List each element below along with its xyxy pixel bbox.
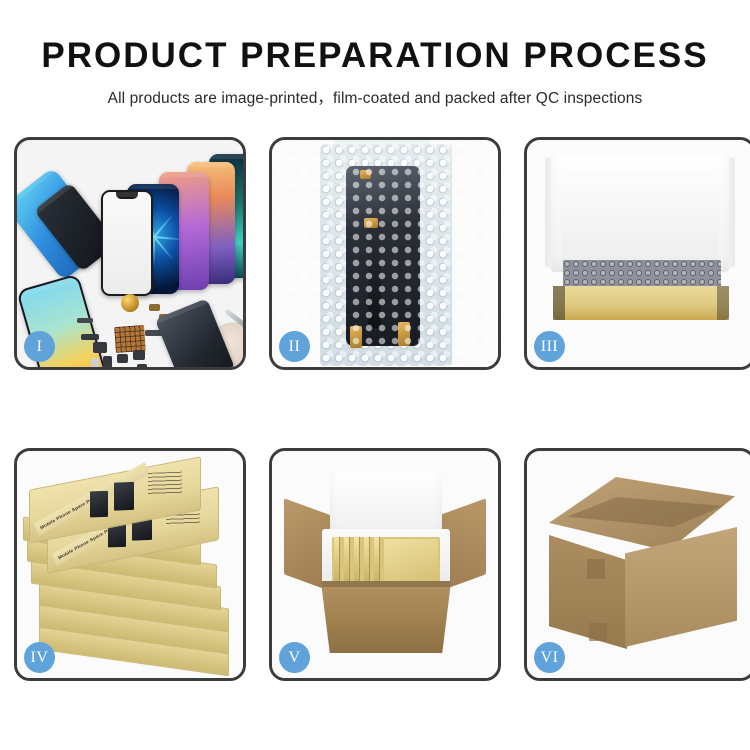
screen-protector-glass bbox=[101, 190, 153, 296]
step-panel-2[interactable]: II bbox=[269, 137, 501, 370]
gold-connector bbox=[398, 322, 410, 346]
step-panel-3[interactable]: III bbox=[524, 137, 750, 370]
sealed-carton-illustration bbox=[527, 451, 750, 678]
small-part bbox=[91, 358, 99, 367]
step-badge-6: VI bbox=[534, 642, 565, 673]
small-part bbox=[117, 354, 128, 363]
camera-lens-part bbox=[121, 294, 139, 312]
page-subtitle: All products are image-printed，film-coat… bbox=[0, 86, 750, 108]
carton-tape-patch bbox=[587, 559, 605, 579]
page-header: PRODUCT PREPARATION PROCESS All products… bbox=[0, 0, 750, 108]
page-title: PRODUCT PREPARATION PROCESS bbox=[0, 38, 750, 75]
gold-connector bbox=[360, 170, 371, 179]
small-part bbox=[103, 356, 112, 367]
inner-box-illustration bbox=[527, 140, 750, 367]
step-badge-2: II bbox=[279, 331, 310, 362]
carton-packing-illustration bbox=[272, 451, 498, 678]
step-badge-1: I bbox=[24, 331, 55, 362]
box-product-image bbox=[90, 491, 108, 518]
step-badge-4: IV bbox=[24, 642, 55, 673]
small-part bbox=[77, 318, 93, 323]
small-part bbox=[137, 364, 147, 367]
logic-board-chip bbox=[114, 325, 146, 353]
step-panel-4[interactable]: Mobile Phone Spare Parts Mobile Phone Sp… bbox=[14, 448, 246, 681]
carton-front-face bbox=[625, 527, 737, 647]
bubble-wrap-illustration bbox=[272, 140, 498, 367]
small-part bbox=[149, 304, 160, 311]
kraft-box-tray bbox=[553, 286, 729, 320]
flex-cable bbox=[368, 224, 381, 328]
box-product-image bbox=[114, 482, 134, 511]
small-part bbox=[133, 350, 145, 360]
step-panel-6[interactable]: VI bbox=[524, 448, 750, 681]
step-panel-5[interactable]: V bbox=[269, 448, 501, 681]
shipping-carton-open bbox=[312, 581, 460, 653]
step-badge-3: III bbox=[534, 331, 565, 362]
step-panel-1[interactable]: I bbox=[14, 137, 246, 370]
gold-connector bbox=[350, 326, 362, 348]
step-badge-5: V bbox=[279, 642, 310, 673]
phone-parts-illustration bbox=[17, 140, 243, 367]
gold-connector bbox=[364, 218, 378, 228]
carton-left-face bbox=[549, 535, 627, 649]
yellow-boxes-inside bbox=[332, 537, 440, 583]
box-spec-text bbox=[148, 472, 182, 495]
flex-cable-part bbox=[81, 334, 99, 340]
small-part bbox=[93, 342, 107, 353]
screen-assembly bbox=[346, 166, 420, 346]
stacked-boxes-illustration: Mobile Phone Spare Parts Mobile Phone Sp… bbox=[17, 451, 243, 678]
foam-lid-inner bbox=[561, 170, 719, 268]
carton-tape-patch bbox=[589, 623, 607, 641]
process-step-grid: I II III bbox=[14, 137, 736, 681]
